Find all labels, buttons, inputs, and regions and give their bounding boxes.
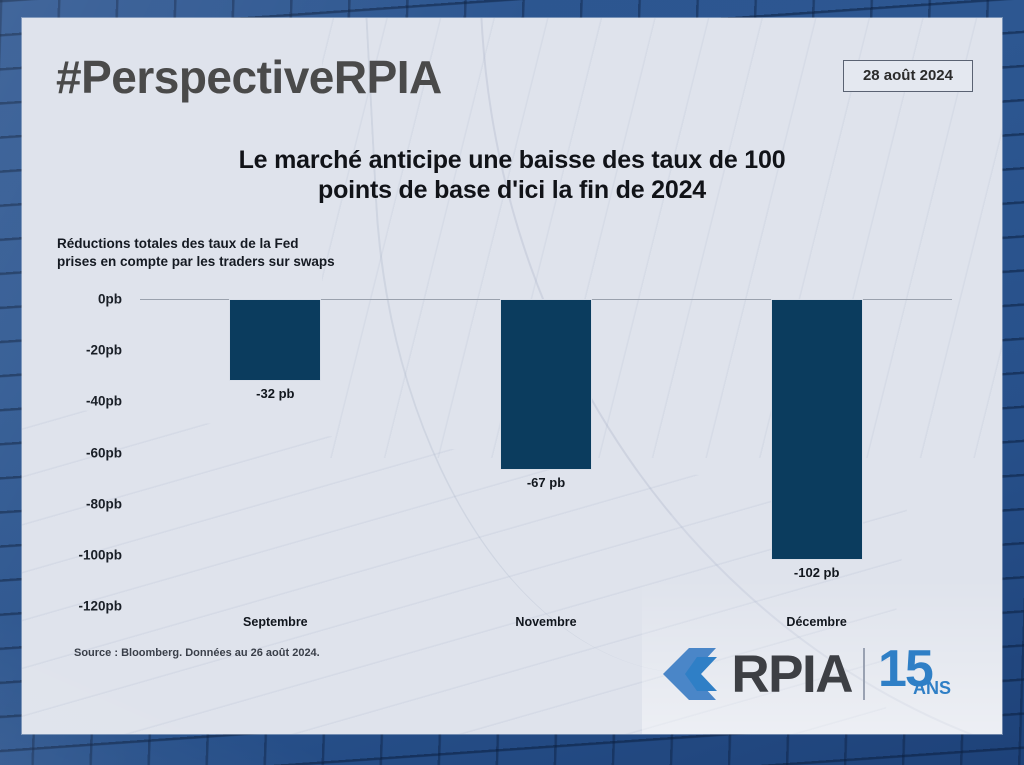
anniversary-word: ANS <box>913 678 951 699</box>
headline: Le marché anticipe une baisse des taux d… <box>22 145 1002 205</box>
category-label-2: Décembre <box>786 615 846 629</box>
y-axis-tick-1: -20pb <box>32 343 122 358</box>
category-label-0: Septembre <box>243 615 308 629</box>
y-axis-tick-5: -100pb <box>32 547 122 562</box>
chart-subtitle: Réductions totales des taux de la Fed pr… <box>57 235 335 271</box>
slide-card: #PerspectiveRPIA 28 août 2024 Le marché … <box>22 18 1002 734</box>
y-axis-tick-3: -60pb <box>32 445 122 460</box>
category-label-1: Novembre <box>515 615 576 629</box>
rpia-logo: RPIA 15 ANS <box>661 646 966 702</box>
rpia-chevron-diamond-icon <box>661 647 723 701</box>
y-axis-tick-6: -120pb <box>32 599 122 614</box>
headline-line-2: points de base d'ici la fin de 2024 <box>22 175 1002 205</box>
y-axis-tick-2: -40pb <box>32 394 122 409</box>
bar-novembre <box>500 299 592 470</box>
chart-subtitle-line-1: Réductions totales des taux de la Fed <box>57 235 335 253</box>
headline-line-1: Le marché anticipe une baisse des taux d… <box>22 145 1002 175</box>
bar-chart: 0pb-20pb-40pb-60pb-80pb-100pb-120pb -32 … <box>140 299 952 606</box>
chart-subtitle-line-2: prises en compte par les traders sur swa… <box>57 253 335 271</box>
source-note: Source : Bloomberg. Données au 26 août 2… <box>74 647 320 659</box>
y-axis-tick-4: -80pb <box>32 496 122 511</box>
bar-value-label-1: -67 pb <box>527 475 565 490</box>
page-title: #PerspectiveRPIA <box>56 50 442 104</box>
y-axis-tick-0: 0pb <box>32 292 122 307</box>
bar-septembre <box>229 299 321 381</box>
bar-value-label-2: -102 pb <box>794 565 840 580</box>
logo-divider <box>863 648 865 700</box>
bar-décembre <box>771 299 863 560</box>
rpia-wordmark: RPIA <box>731 648 852 701</box>
date-badge: 28 août 2024 <box>843 60 973 92</box>
slide-frame: #PerspectiveRPIA 28 août 2024 Le marché … <box>0 0 1024 765</box>
bar-value-label-0: -32 pb <box>256 386 294 401</box>
anniversary-badge: 15 ANS <box>878 646 966 702</box>
